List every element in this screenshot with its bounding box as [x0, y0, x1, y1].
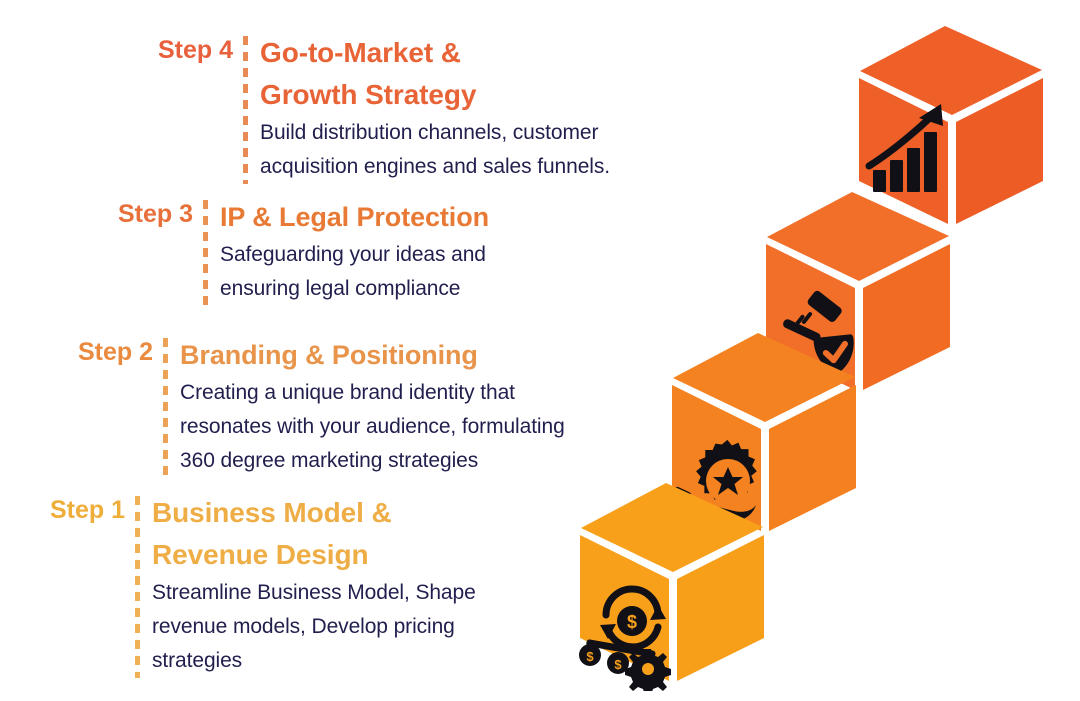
step-divider-2 — [163, 338, 168, 478]
step-divider-4 — [243, 36, 248, 184]
svg-text:$: $ — [586, 649, 594, 664]
step-body-1: Business Model & Revenue Design Streamli… — [152, 492, 476, 678]
cube-step-1[interactable]: $ $ $ — [576, 479, 771, 691]
step-label-2: Step 2 — [78, 334, 153, 367]
step-title-4: Go-to-Market & Growth Strategy — [260, 32, 610, 116]
step-divider-3 — [203, 200, 208, 306]
step-description-2: Creating a unique brand identity that re… — [180, 376, 565, 478]
step-title-1: Business Model & Revenue Design — [152, 492, 476, 576]
step-block-2: Step 2 Branding & Positioning Creating a… — [78, 334, 565, 478]
step-block-4: Step 4 Go-to-Market & Growth Strategy Bu… — [158, 32, 610, 184]
step-title-2: Branding & Positioning — [180, 334, 565, 376]
step-label-1: Step 1 — [50, 492, 125, 525]
infographic-canvas: $ $ $ Step 4 Go-to-Market & Growth Strat… — [0, 0, 1080, 701]
step-block-1: Step 1 Business Model & Revenue Design S… — [50, 492, 476, 678]
step-title-3: IP & Legal Protection — [220, 196, 489, 238]
step-description-4: Build distribution channels, customer ac… — [260, 116, 610, 184]
step-label-4: Step 4 — [158, 32, 233, 65]
step-block-3: Step 3 IP & Legal Protection Safeguardin… — [118, 196, 489, 306]
svg-text:$: $ — [614, 657, 622, 672]
step-description-1: Streamline Business Model, Shape revenue… — [152, 576, 476, 678]
svg-text:$: $ — [627, 612, 637, 632]
step-body-4: Go-to-Market & Growth Strategy Build dis… — [260, 32, 610, 184]
step-description-3: Safeguarding your ideas and ensuring leg… — [220, 238, 489, 306]
step-label-3: Step 3 — [118, 196, 193, 229]
step-divider-1 — [135, 496, 140, 678]
step-body-3: IP & Legal Protection Safeguarding your … — [220, 196, 489, 306]
step-body-2: Branding & Positioning Creating a unique… — [180, 334, 565, 478]
